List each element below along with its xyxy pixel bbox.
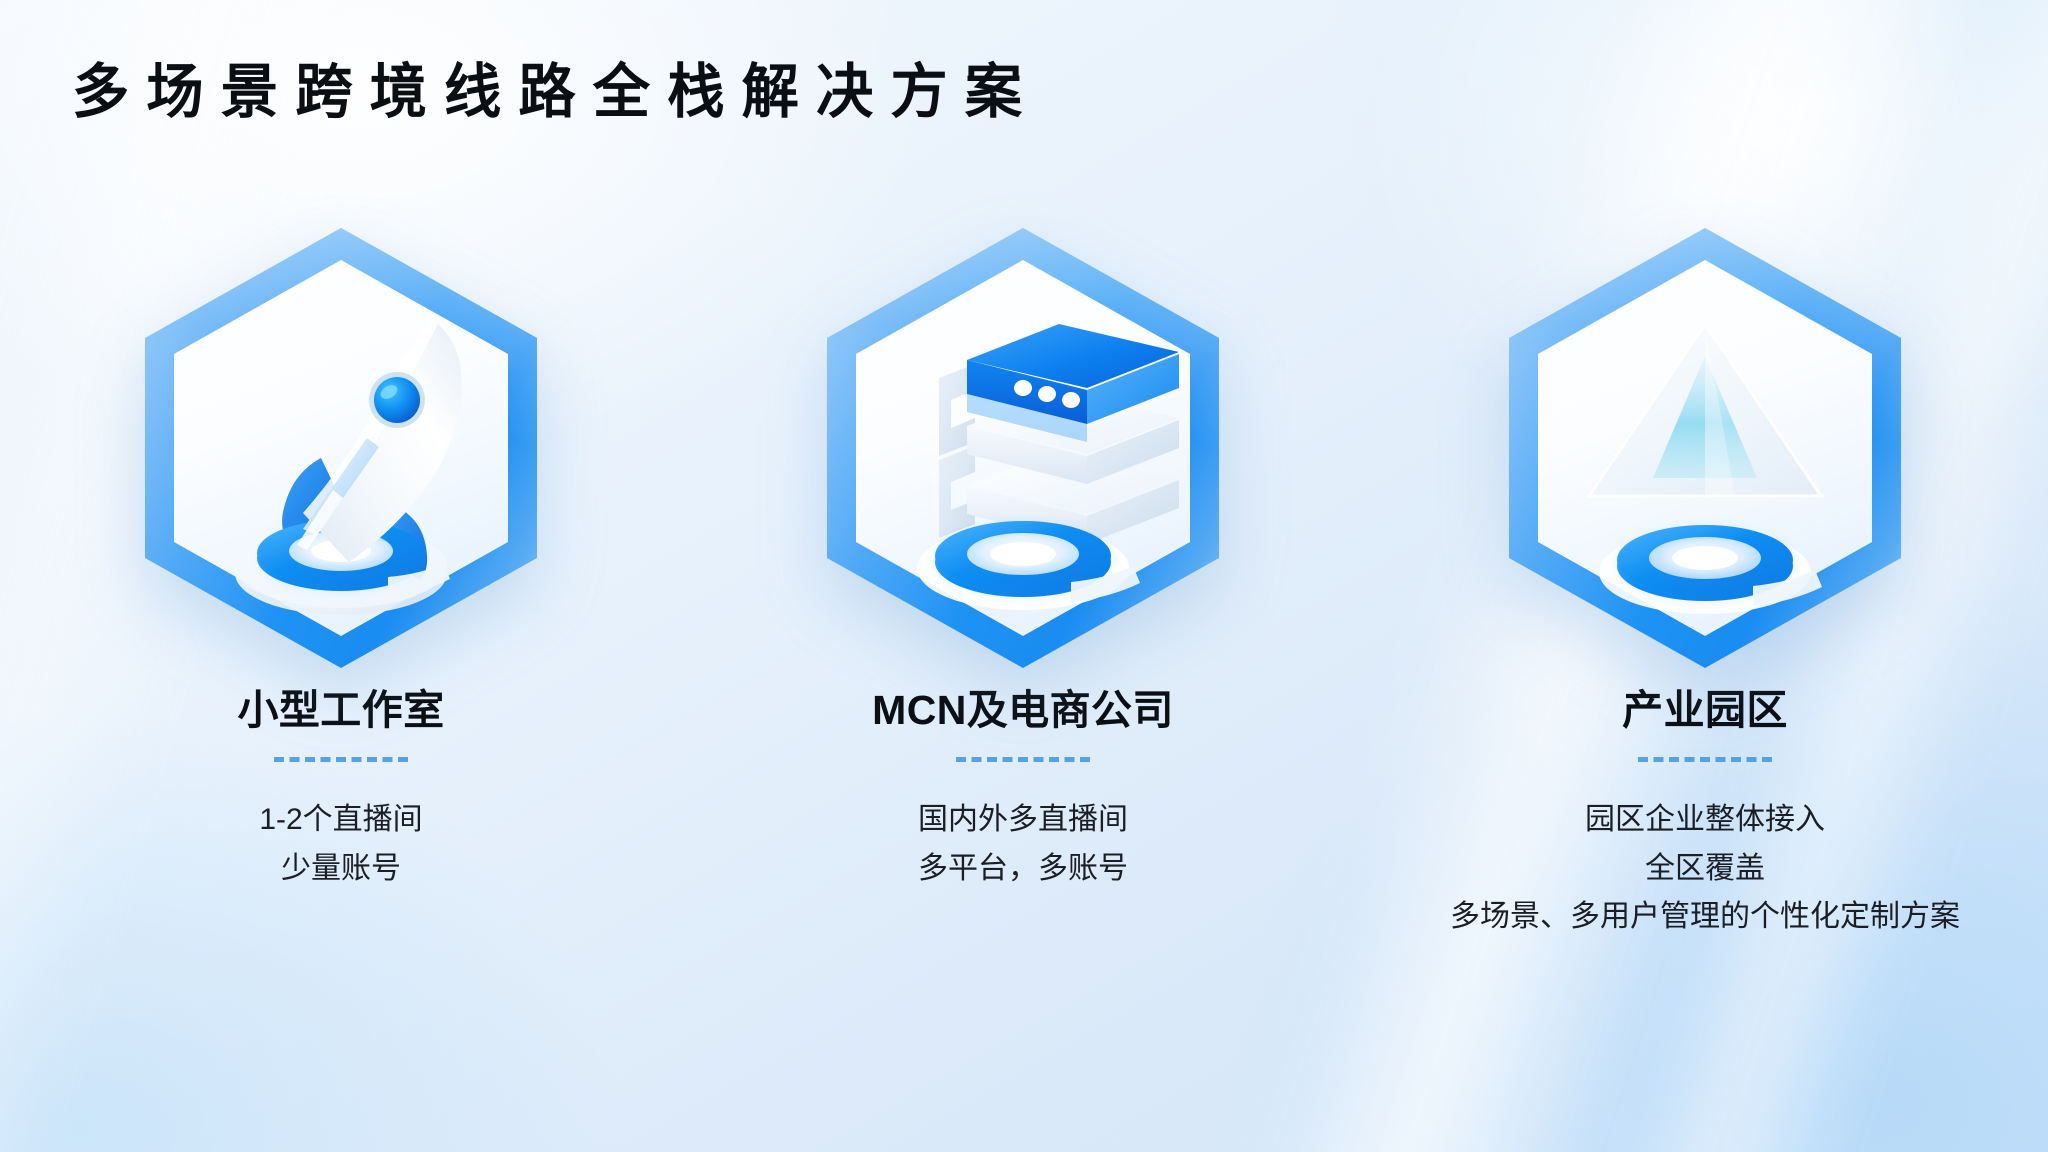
card-description: 1-2个直播间 少量账号: [259, 796, 422, 893]
card-description-line: 多场景、多用户管理的个性化定制方案: [1450, 893, 1960, 942]
card-description-line: 国内外多直播间: [918, 796, 1128, 845]
card-description: 国内外多直播间 多平台，多账号: [918, 796, 1128, 893]
card-divider: [1638, 757, 1772, 762]
card-description-line: 少量账号: [259, 845, 422, 894]
slide-canvas: 多场景跨境线路全栈解决方案: [0, 0, 2048, 1152]
card-title: 小型工作室: [237, 686, 444, 735]
glass-pyramid-icon: [1509, 228, 1901, 668]
rocket-icon: [145, 228, 537, 668]
card-title: MCN及电商公司: [872, 686, 1174, 735]
page-title: 多场景跨境线路全栈解决方案: [72, 56, 1039, 130]
card-title: 产业园区: [1622, 686, 1788, 735]
hex-badge: [1509, 228, 1901, 668]
card-description-line: 全区覆盖: [1450, 845, 1960, 894]
card-divider: [274, 757, 408, 762]
scenario-card[interactable]: MCN及电商公司 国内外多直播间 多平台，多账号: [682, 228, 1364, 942]
card-divider: [956, 757, 1090, 762]
server-stack-icon: [827, 228, 1219, 668]
card-description-line: 多平台，多账号: [918, 845, 1128, 894]
card-description-line: 1-2个直播间: [259, 796, 422, 845]
card-description: 园区企业整体接入 全区覆盖 多场景、多用户管理的个性化定制方案: [1450, 796, 1960, 942]
card-description-line: 园区企业整体接入: [1450, 796, 1960, 845]
hex-badge: [827, 228, 1219, 668]
hex-badge: [145, 228, 537, 668]
scenario-card[interactable]: 产业园区 园区企业整体接入 全区覆盖 多场景、多用户管理的个性化定制方案: [1364, 228, 2046, 942]
scenario-card[interactable]: 小型工作室 1-2个直播间 少量账号: [0, 228, 682, 942]
scenario-card-row: 小型工作室 1-2个直播间 少量账号: [0, 228, 2048, 942]
